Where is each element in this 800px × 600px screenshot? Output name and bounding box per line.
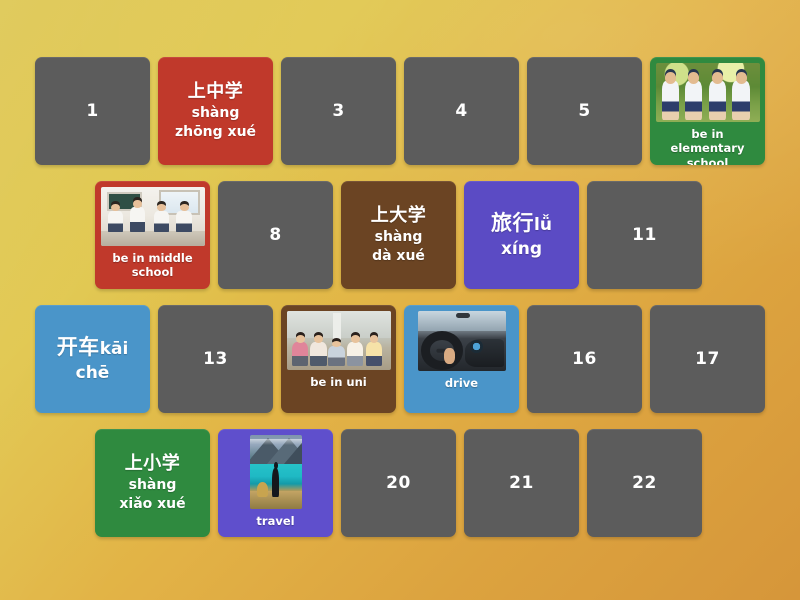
term-pinyin-below: xíng [501,239,542,259]
card-tile-16[interactable]: 16 [527,305,642,413]
card-tile-8[interactable]: 8 [218,181,333,289]
card-number-label: 13 [203,349,228,369]
card-row-1: 1 上中学shàng zhōng xué 3 4 5 be in element… [35,57,765,165]
term-pinyin-below: zhōng xué [175,124,256,140]
term-chinese: 开车 [57,335,100,359]
card-row-2: be in middle school 8 上大学shàng dà xué 旅行… [95,181,702,289]
card-number-label: 4 [455,101,467,121]
card-tile-22[interactable]: 22 [587,429,702,537]
card-tile-11[interactable]: 11 [587,181,702,289]
traveler-at-mountain-lake-photo [250,435,302,509]
term-pinyin-inline: kāi [100,339,129,359]
card-number-label: 17 [695,349,720,369]
card-tile-travel[interactable]: travel [218,429,333,537]
card-number-label: 3 [332,101,344,121]
card-tile-be-in-uni[interactable]: be in uni [281,305,396,413]
card-tile-shang-da-xue[interactable]: 上大学shàng dà xué [341,181,456,289]
term-pinyin-inline: shàng [192,105,240,121]
term-chinese: 上中学 [188,81,244,102]
card-tile-5[interactable]: 5 [527,57,642,165]
card-number-label: 5 [578,101,590,121]
card-tile-3[interactable]: 3 [281,57,396,165]
card-caption: be in uni [308,375,368,389]
term-text: 旅行lǚ xíng [491,209,552,260]
term-pinyin-below: xiǎo xué [119,496,185,512]
matching-pairs-board: 1 上中学shàng zhōng xué 3 4 5 be in element… [0,0,800,600]
driving-steering-wheel-photo [418,311,506,371]
card-row-4: 上小学shàng xiǎo xué travel 20 21 22 [95,429,702,537]
card-number-label: 11 [632,225,657,245]
elementary-school-children-photo [656,63,760,122]
card-number-label: 16 [572,349,597,369]
card-tile-4[interactable]: 4 [404,57,519,165]
card-row-3: 开车kāi chē 13 be in uni [35,305,765,413]
term-pinyin-inline: shàng [129,477,177,493]
card-number-label: 22 [632,473,657,493]
term-text: 上中学shàng zhōng xué [164,80,267,142]
card-caption: drive [443,376,480,390]
term-text: 上大学shàng dà xué [347,204,450,266]
card-tile-20[interactable]: 20 [341,429,456,537]
card-caption: be in elementary school [655,127,760,165]
card-tile-be-in-elementary-school[interactable]: be in elementary school [650,57,765,165]
term-pinyin-below: chē [76,363,110,383]
term-pinyin-inline: shàng [375,229,423,245]
card-number-label: 21 [509,473,534,493]
term-chinese: 上大学 [371,205,427,226]
card-tile-1[interactable]: 1 [35,57,150,165]
card-tile-drive[interactable]: drive [404,305,519,413]
card-tile-lv-xing[interactable]: 旅行lǚ xíng [464,181,579,289]
card-tile-13[interactable]: 13 [158,305,273,413]
term-text: 上小学shàng xiǎo xué [101,452,204,514]
middle-school-classroom-photo [101,187,205,246]
term-pinyin-below: dà xué [372,248,425,264]
card-tile-be-in-middle-school[interactable]: be in middle school [95,181,210,289]
card-number-label: 8 [269,225,281,245]
card-number-label: 1 [86,101,98,121]
term-chinese: 旅行 [491,211,534,235]
card-tile-shang-zhong-xue[interactable]: 上中学shàng zhōng xué [158,57,273,165]
card-tile-shang-xiao-xue[interactable]: 上小学shàng xiǎo xué [95,429,210,537]
card-tile-17[interactable]: 17 [650,305,765,413]
university-friends-photo [287,311,391,370]
card-caption: be in middle school [100,251,205,280]
term-text: 开车kāi chē [57,333,129,384]
term-chinese: 上小学 [125,453,181,474]
card-tile-kai-che[interactable]: 开车kāi chē [35,305,150,413]
card-tile-21[interactable]: 21 [464,429,579,537]
card-caption: travel [254,514,296,528]
card-number-label: 20 [386,473,411,493]
term-pinyin-inline: lǚ [534,215,552,235]
